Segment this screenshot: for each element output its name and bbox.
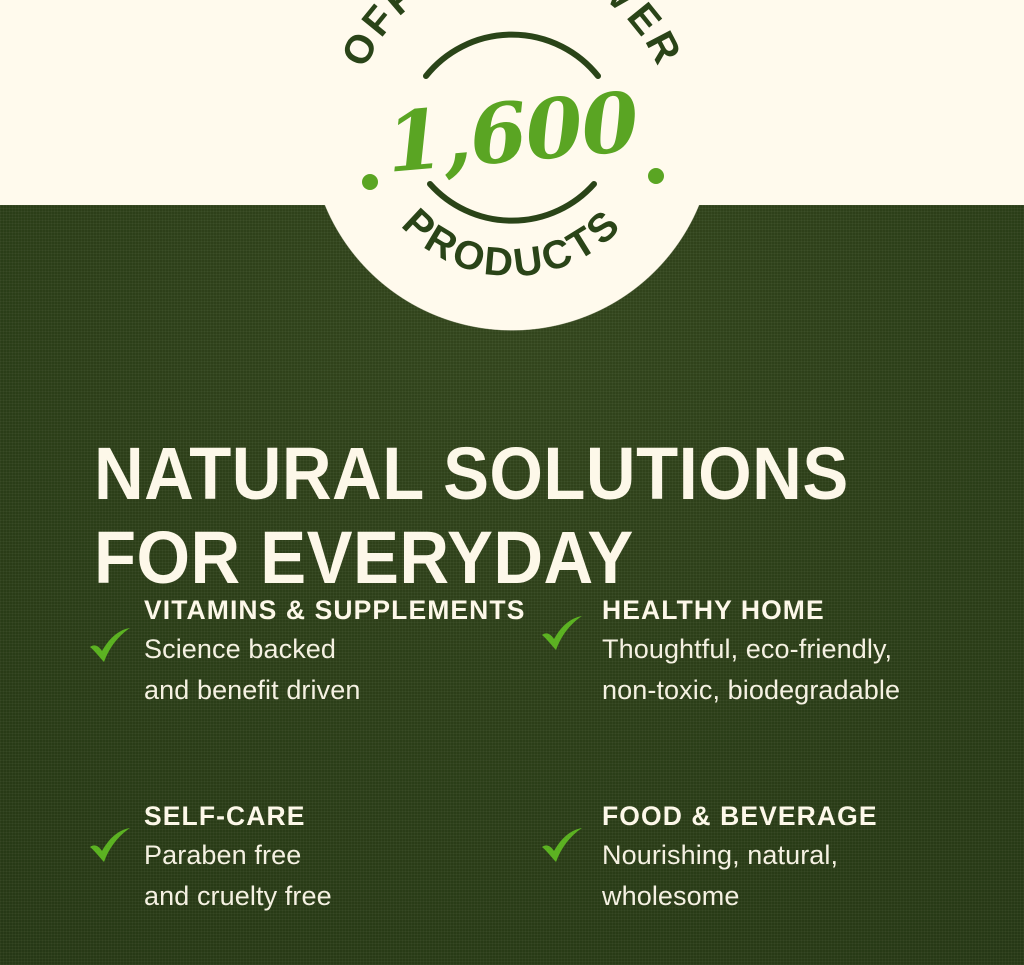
feature-desc-line-2: non-toxic, biodegradable <box>602 675 900 705</box>
badge-dot-right <box>648 168 664 184</box>
promo-poster: OFFERING OVER PRODUCTS 1,600 NATURAL SOL… <box>0 0 1024 965</box>
feature-item-self-care: SELF-CARE Paraben free and cruelty free <box>88 792 540 917</box>
feature-description: Nourishing, natural, wholesome <box>602 835 982 917</box>
feature-desc-line-1: Science backed <box>144 634 336 664</box>
feature-text-block: SELF-CARE Paraben free and cruelty free <box>144 798 534 917</box>
feature-title: SELF-CARE <box>144 798 534 834</box>
checkmark-icon <box>88 798 144 864</box>
offering-over-products-badge: OFFERING OVER PRODUCTS 1,600 <box>310 0 714 330</box>
feature-desc-line-2: and cruelty free <box>144 881 332 911</box>
feature-description: Paraben free and cruelty free <box>144 835 534 917</box>
feature-list: VITAMINS & SUPPLEMENTS Science backed an… <box>88 592 988 917</box>
feature-title: FOOD & BEVERAGE <box>602 798 982 834</box>
feature-desc-line-2: and benefit driven <box>144 675 360 705</box>
feature-item-vitamins-supplements: VITAMINS & SUPPLEMENTS Science backed an… <box>88 592 540 792</box>
feature-title: HEALTHY HOME <box>602 592 982 628</box>
headline-line-2: FOR EVERYDAY <box>94 516 903 600</box>
feature-title: VITAMINS & SUPPLEMENTS <box>144 592 534 628</box>
feature-text-block: VITAMINS & SUPPLEMENTS Science backed an… <box>144 592 534 711</box>
checkmark-icon <box>88 592 144 664</box>
feature-desc-line-1: Thoughtful, eco-friendly, <box>602 634 892 664</box>
feature-desc-line-1: Paraben free <box>144 840 301 870</box>
headline-line-1: NATURAL SOLUTIONS <box>94 432 903 516</box>
feature-text-block: FOOD & BEVERAGE Nourishing, natural, who… <box>602 798 982 917</box>
feature-text-block: HEALTHY HOME Thoughtful, eco-friendly, n… <box>602 592 982 711</box>
feature-description: Thoughtful, eco-friendly, non-toxic, bio… <box>602 629 982 711</box>
feature-description: Science backed and benefit driven <box>144 629 534 711</box>
feature-item-food-beverage: FOOD & BEVERAGE Nourishing, natural, who… <box>540 792 988 917</box>
checkmark-icon <box>540 798 596 864</box>
feature-desc-line-1: Nourishing, natural, <box>602 840 838 870</box>
checkmark-icon <box>540 592 596 652</box>
page-title: NATURAL SOLUTIONS FOR EVERYDAY <box>94 432 903 600</box>
feature-desc-line-2: wholesome <box>602 881 739 911</box>
feature-item-healthy-home: HEALTHY HOME Thoughtful, eco-friendly, n… <box>540 592 988 792</box>
